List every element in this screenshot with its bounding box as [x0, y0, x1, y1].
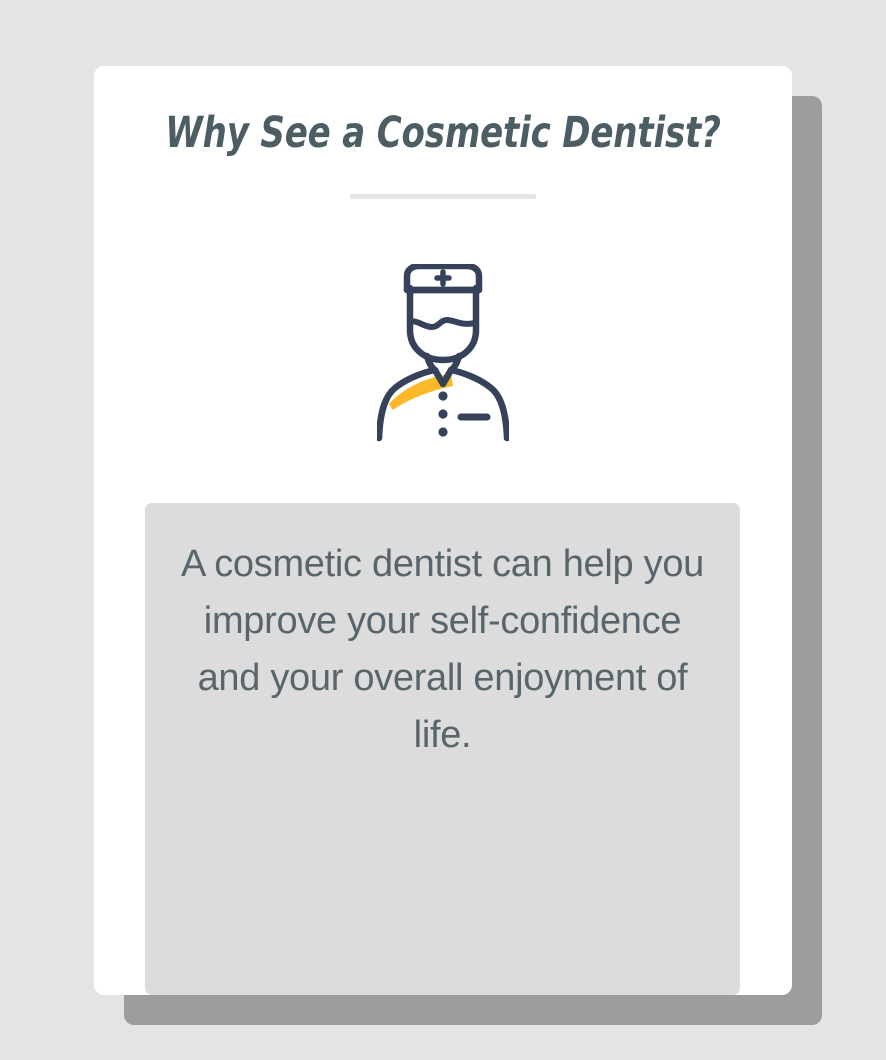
button-dot-1 — [438, 391, 447, 400]
face-mask-line — [411, 320, 475, 327]
button-dot-3 — [438, 427, 447, 436]
plus-icon — [437, 272, 449, 284]
dentist-icon-svg — [377, 264, 509, 448]
page-title: Why See a Cosmetic Dentist? — [136, 108, 750, 158]
dentist-icon — [310, 264, 576, 448]
quote-text: A cosmetic dentist can help you improve … — [171, 536, 714, 764]
content-card: Why See a Cosmetic Dentist? — [94, 66, 792, 995]
button-dot-2 — [438, 409, 447, 418]
right-shoulder-line — [451, 370, 507, 438]
slide-canvas: Why See a Cosmetic Dentist? — [0, 0, 886, 1060]
quote-panel: A cosmetic dentist can help you improve … — [145, 503, 740, 995]
title-divider — [350, 194, 536, 199]
